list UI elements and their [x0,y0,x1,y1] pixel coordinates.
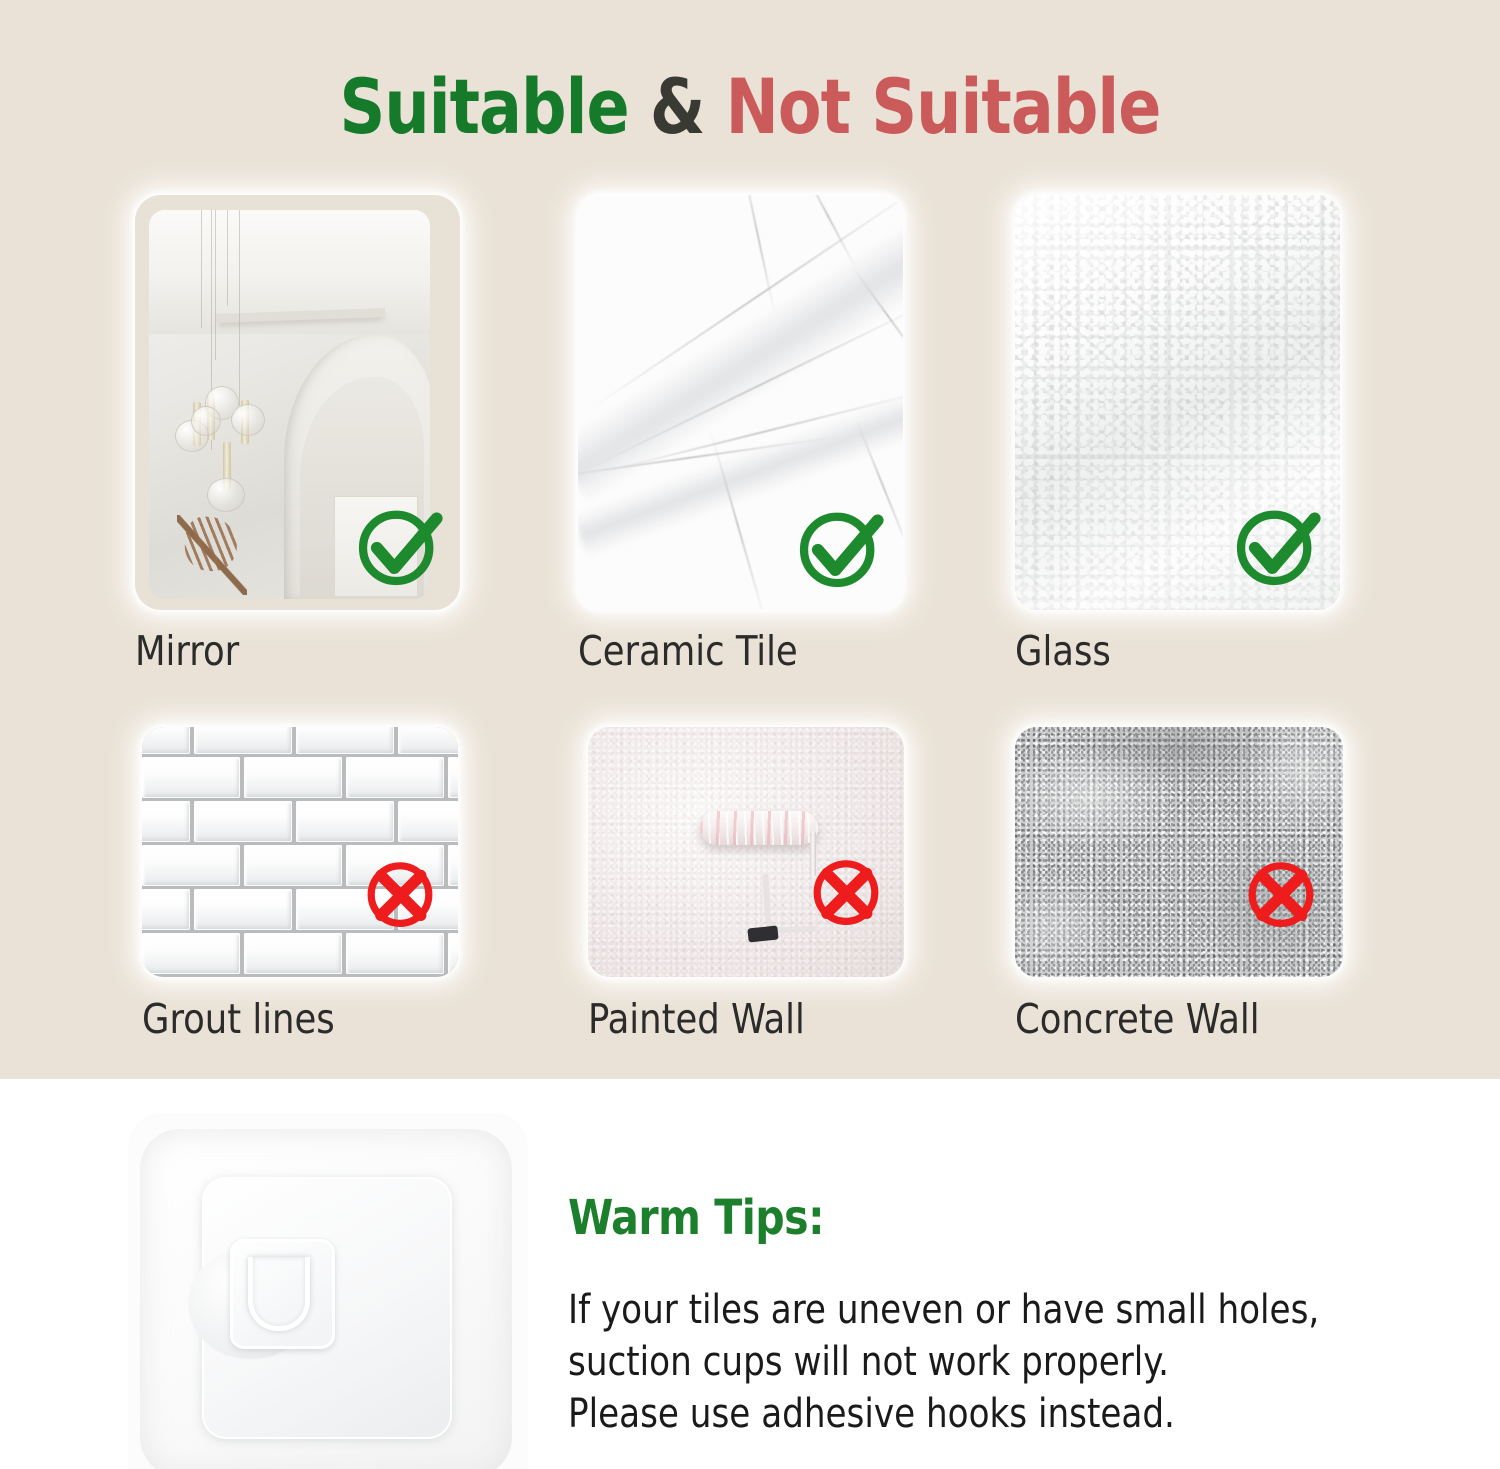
cross-badge-icon [806,851,886,931]
subway-tile [244,933,342,974]
chandelier-globe [207,478,245,512]
reflected-dried-plant [177,515,247,595]
painted-wall-thumbnail [588,727,904,977]
page-title: Suitable & Not Suitable [53,62,1448,151]
subway-tile [142,933,240,974]
subway-tile [142,845,240,886]
subway-tile [142,801,190,842]
warm-tips-line-2: suction cups will not work properly. [568,1336,1404,1388]
subway-tile [194,889,292,930]
chandelier-globe [231,404,265,436]
subway-tile [448,845,458,886]
suitability-panel: Suitable & Not Suitable [0,0,1500,1079]
chandelier-wire [227,210,228,306]
mirror-thumbnail [135,195,460,610]
title-not-suitable: Not Suitable [726,62,1161,151]
subway-tile [142,727,190,754]
check-badge-icon [793,502,885,594]
subway-tile [448,933,458,974]
subway-tile [398,801,458,842]
hook-u-bracket [248,1257,310,1331]
chandelier-globe [191,406,221,436]
warm-tips-line-1: If your tiles are uneven or have small h… [568,1284,1404,1336]
subway-tile [194,727,292,754]
warm-tips-text-block: Warm Tips: If your tiles are uneven or h… [568,1190,1448,1440]
subway-tile [448,757,458,798]
subway-tile [296,727,394,754]
ceramic-tile-thumbnail [578,195,903,610]
subway-tile [194,801,292,842]
chandelier-wire [239,210,240,406]
subway-tile [398,727,458,754]
title-ampersand: & [650,62,705,151]
subway-tile [346,933,444,974]
cross-badge-icon [360,853,440,933]
title-suitable: Suitable [340,62,629,151]
subway-tile [244,757,342,798]
check-badge-icon [1230,500,1322,592]
warm-tips-line-3: Please use adhesive hooks instead. [568,1388,1404,1440]
subway-tile [142,757,240,798]
grout-lines-thumbnail [142,727,458,977]
subway-tile [142,889,190,930]
hook-adhesive-base [140,1129,512,1469]
warm-tips-heading: Warm Tips: [568,1190,1404,1246]
concrete-blotches [1015,727,1343,977]
chandelier-wire [201,210,202,328]
warm-tips-body: If your tiles are uneven or have small h… [568,1284,1404,1440]
subway-tile [346,757,444,798]
concrete-wall-thumbnail [1015,727,1343,977]
adhesive-suction-hook-photo [128,1113,528,1469]
check-badge-icon [352,500,444,592]
paint-roller-sleeve [700,811,818,845]
subway-tile [296,801,394,842]
subway-tile [244,845,342,886]
chandelier-wire [215,210,216,360]
glass-thumbnail [1015,195,1340,610]
subway-tile-wall [142,727,458,977]
cross-badge-icon [1241,853,1321,933]
